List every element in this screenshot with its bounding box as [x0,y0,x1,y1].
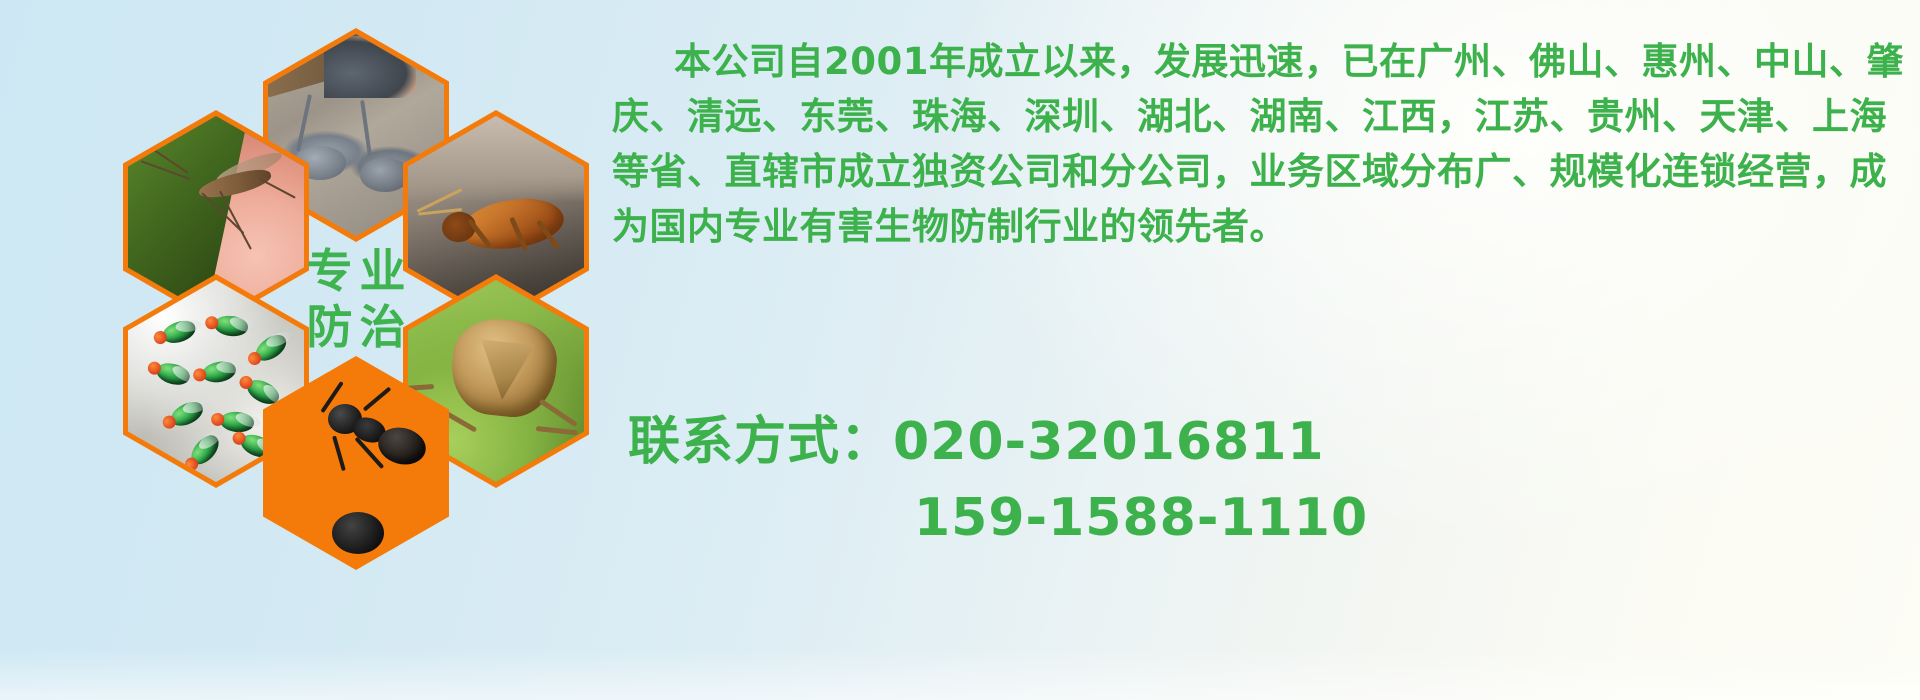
center-slogan-line1: 专业 [307,244,413,298]
contact-mobile-number[interactable]: 159-1588-1110 [914,488,1368,548]
contact-landline-number[interactable]: 020-32016811 [893,412,1325,472]
rodent-body [360,158,410,192]
fly-shape [201,359,238,385]
ant-image [268,362,444,564]
promo-banner: 专业 防治 [0,0,1920,700]
fly-shape [219,410,255,433]
center-slogan-line2: 防治 [300,299,413,355]
contact-block: 联系方式：020-32016811 159-1588-1110 [628,404,1898,556]
mosquito-proboscis [260,178,296,199]
ant-photo [268,362,444,564]
fly-shape [154,360,192,389]
stinkbug-leg [536,426,578,435]
tail-shape [296,94,312,152]
fly-shape [160,317,199,347]
mosquito-leg [219,191,252,250]
ant-second-body [332,512,384,554]
ant-leg [363,387,392,412]
company-description-text: 本公司自2001年成立以来，发展迅速，已在广州、佛山、惠州、中山、肇庆、清远、东… [612,34,1910,254]
contact-label: 联系方式： [628,412,893,472]
fly-shape [186,431,224,470]
tail-shape [360,100,372,156]
stinkbug-leg [539,398,578,427]
fly-shape [167,398,206,431]
center-slogan: 专业 防治 [300,243,413,355]
fly-shape [213,314,249,339]
company-description: 本公司自2001年成立以来，发展迅速，已在广州、佛山、惠州、中山、肇庆、清远、东… [612,34,1910,254]
contact-landline-row: 联系方式：020-32016811 [628,404,1898,480]
fly-shape [251,330,290,366]
contact-mobile-row: 159-1588-1110 [628,480,1898,556]
ant-leg [332,435,346,471]
honeycomb-cluster: 专业 防治 [95,0,595,578]
